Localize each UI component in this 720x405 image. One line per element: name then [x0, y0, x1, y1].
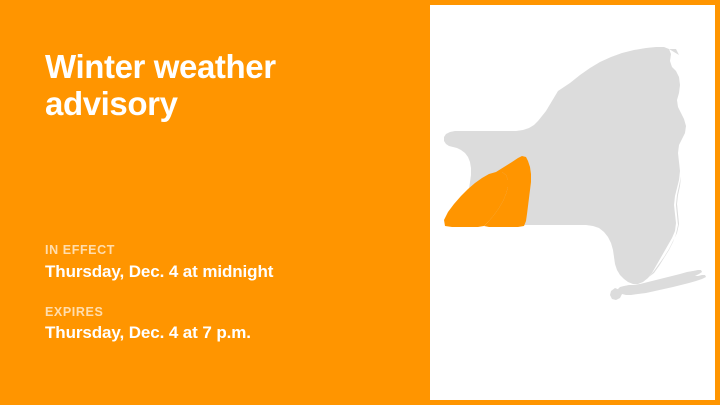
advisory-headline: Winter weather advisory: [45, 48, 345, 123]
advisory-timing-group: IN EFFECT Thursday, Dec. 4 at midnight E…: [45, 243, 385, 344]
expires-value: Thursday, Dec. 4 at 7 p.m.: [45, 322, 385, 344]
in-effect-value: Thursday, Dec. 4 at midnight: [45, 261, 385, 283]
expires-label: EXPIRES: [45, 305, 385, 321]
timing-block-expires: EXPIRES Thursday, Dec. 4 at 7 p.m.: [45, 305, 385, 345]
map-panel: [430, 5, 715, 400]
new-york-state-map: [430, 5, 715, 400]
weather-advisory-card: Winter weather advisory IN EFFECT Thursd…: [0, 0, 720, 405]
state-shape-new-york: [444, 47, 686, 284]
in-effect-label: IN EFFECT: [45, 243, 385, 259]
timing-block-in-effect: IN EFFECT Thursday, Dec. 4 at midnight: [45, 243, 385, 283]
